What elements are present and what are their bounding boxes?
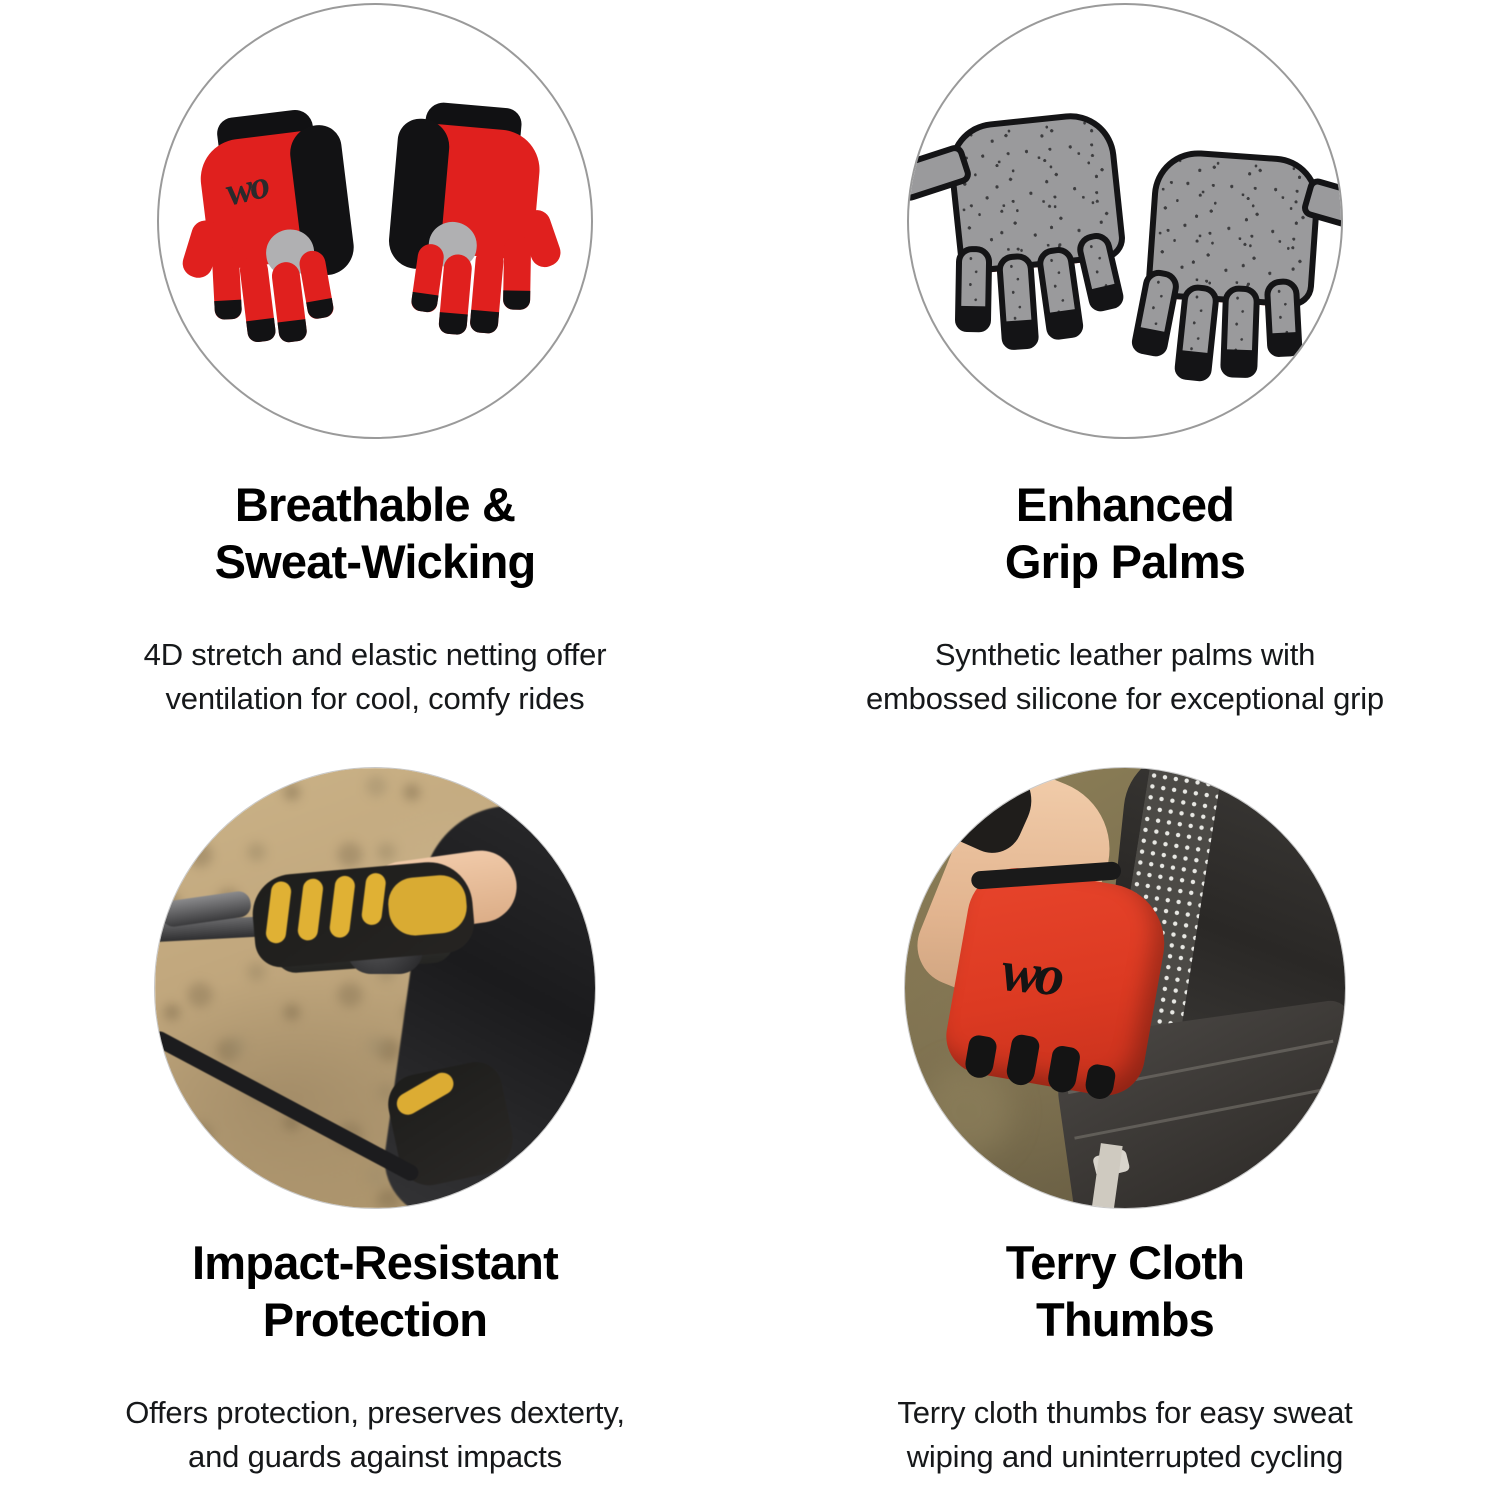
glove-finger	[1130, 267, 1182, 358]
feature-description: Terry cloth thumbs for easy sweat wiping…	[897, 1391, 1352, 1479]
red-glove-left: wo	[188, 105, 365, 352]
grey-gloves-illustration	[909, 5, 1341, 437]
trail-background: wo	[905, 768, 1345, 1208]
glove-stripe	[361, 872, 387, 926]
glove-fingertip	[1005, 1033, 1041, 1087]
feature-title: Breathable & Sweat-Wicking	[215, 476, 536, 591]
glove-finger	[1264, 278, 1303, 358]
glove-knuckle-panel	[386, 873, 469, 938]
feature-title: Enhanced Grip Palms	[1005, 476, 1245, 591]
glove-finger	[211, 245, 242, 320]
feature-description: Offers protection, preserves dexterty, a…	[125, 1391, 625, 1479]
feature-card-impact-resistant-protection: Impact-Resistant Protection Offers prote…	[0, 765, 750, 1490]
glove-finger	[1220, 285, 1260, 378]
red-gloves-illustration: wo	[159, 5, 591, 437]
grey-glove-right	[1127, 118, 1339, 361]
glove-stripe	[329, 875, 356, 939]
feature-title: Impact-Resistant Protection	[192, 1234, 558, 1349]
grey-glove-left	[928, 79, 1147, 328]
glove-finger	[996, 252, 1040, 350]
glove-stripe	[297, 878, 324, 942]
red-glove-wiping-sweat-photo: wo	[904, 767, 1346, 1209]
feature-card-enhanced-grip-palms: Enhanced Grip Palms Synthetic leather pa…	[750, 0, 1500, 765]
feature-card-terry-cloth-thumbs: wo Terry Cloth Thumbs Terry cloth thumbs…	[750, 765, 1500, 1490]
feature-description: 4D stretch and elastic netting offer ven…	[144, 633, 607, 721]
glove-finger	[469, 246, 504, 334]
gloved-hand-on-handlebar-photo	[154, 767, 596, 1209]
feature-title: Terry Cloth Thumbs	[1006, 1234, 1244, 1349]
yellow-black-glove	[249, 859, 476, 970]
glove-stripe	[265, 880, 292, 944]
glove-fingertip	[963, 1034, 998, 1080]
shorts-reflective-strip	[1086, 1143, 1123, 1209]
glove-finger	[438, 253, 473, 335]
trail-background	[155, 768, 595, 1208]
feature-card-breathable-sweat-wicking: wo	[0, 0, 750, 765]
red-cycling-gloves-pair-image: wo	[157, 3, 593, 439]
wo-logo-icon: wo	[999, 937, 1063, 1010]
red-glove: wo	[940, 860, 1173, 1102]
feature-description: Synthetic leather palms with embossed si…	[866, 633, 1384, 721]
red-glove-right	[381, 99, 550, 341]
feature-grid: wo	[0, 0, 1500, 1490]
grey-silicone-palm-gloves-pair-image	[907, 3, 1343, 439]
glove-finger	[955, 246, 992, 333]
glove-fingertip	[1046, 1044, 1082, 1094]
